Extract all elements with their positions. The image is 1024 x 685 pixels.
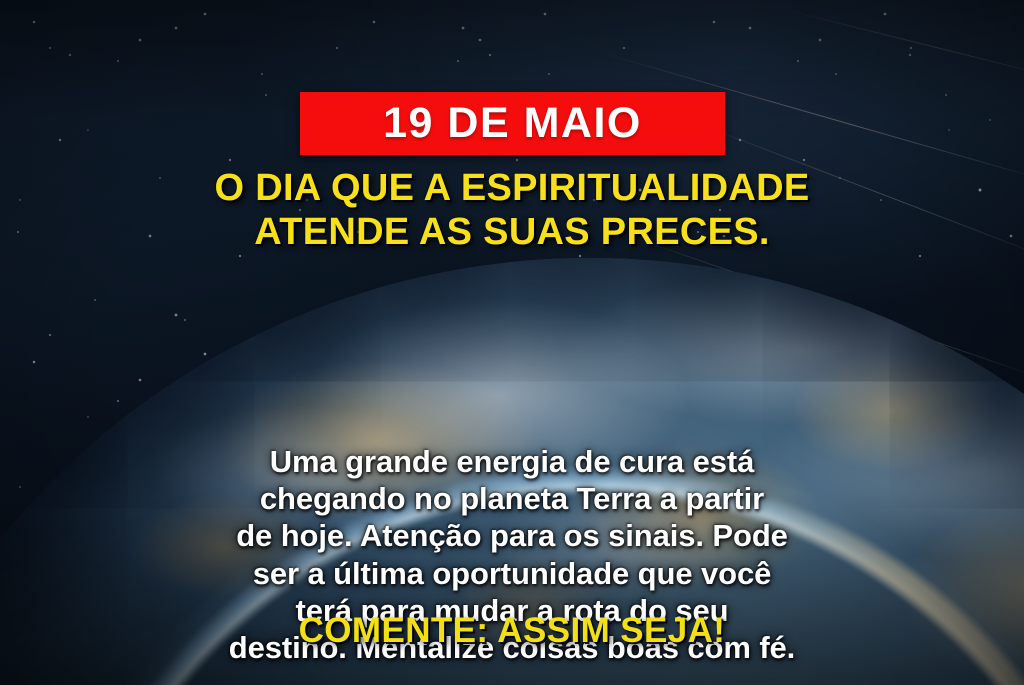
call-to-action-label: COMENTE: ASSIM SEJA! <box>299 611 726 650</box>
poster-canvas: 19 DE MAIO O DIA QUE A ESPIRITUALIDADE A… <box>0 0 1024 685</box>
headline: O DIA QUE A ESPIRITUALIDADE ATENDE AS SU… <box>0 166 1024 254</box>
headline-line-1: O DIA QUE A ESPIRITUALIDADE <box>0 166 1024 210</box>
body-line-4: ser a última oportunidade que você <box>0 555 1024 592</box>
body-line-2: chegando no planeta Terra a partir <box>0 480 1024 517</box>
poster-content: 19 DE MAIO O DIA QUE A ESPIRITUALIDADE A… <box>0 0 1024 685</box>
body-line-3: de hoje. Atenção para os sinais. Pode <box>0 517 1024 554</box>
call-to-action-text: COMENTE: ASSIM SEJA! <box>0 613 1024 648</box>
headline-line-2: ATENDE AS SUAS PRECES. <box>0 210 1024 254</box>
body-line-1: Uma grande energia de cura está <box>0 443 1024 480</box>
date-banner-label: 19 DE MAIO <box>383 102 642 145</box>
date-banner: 19 DE MAIO <box>300 92 725 155</box>
